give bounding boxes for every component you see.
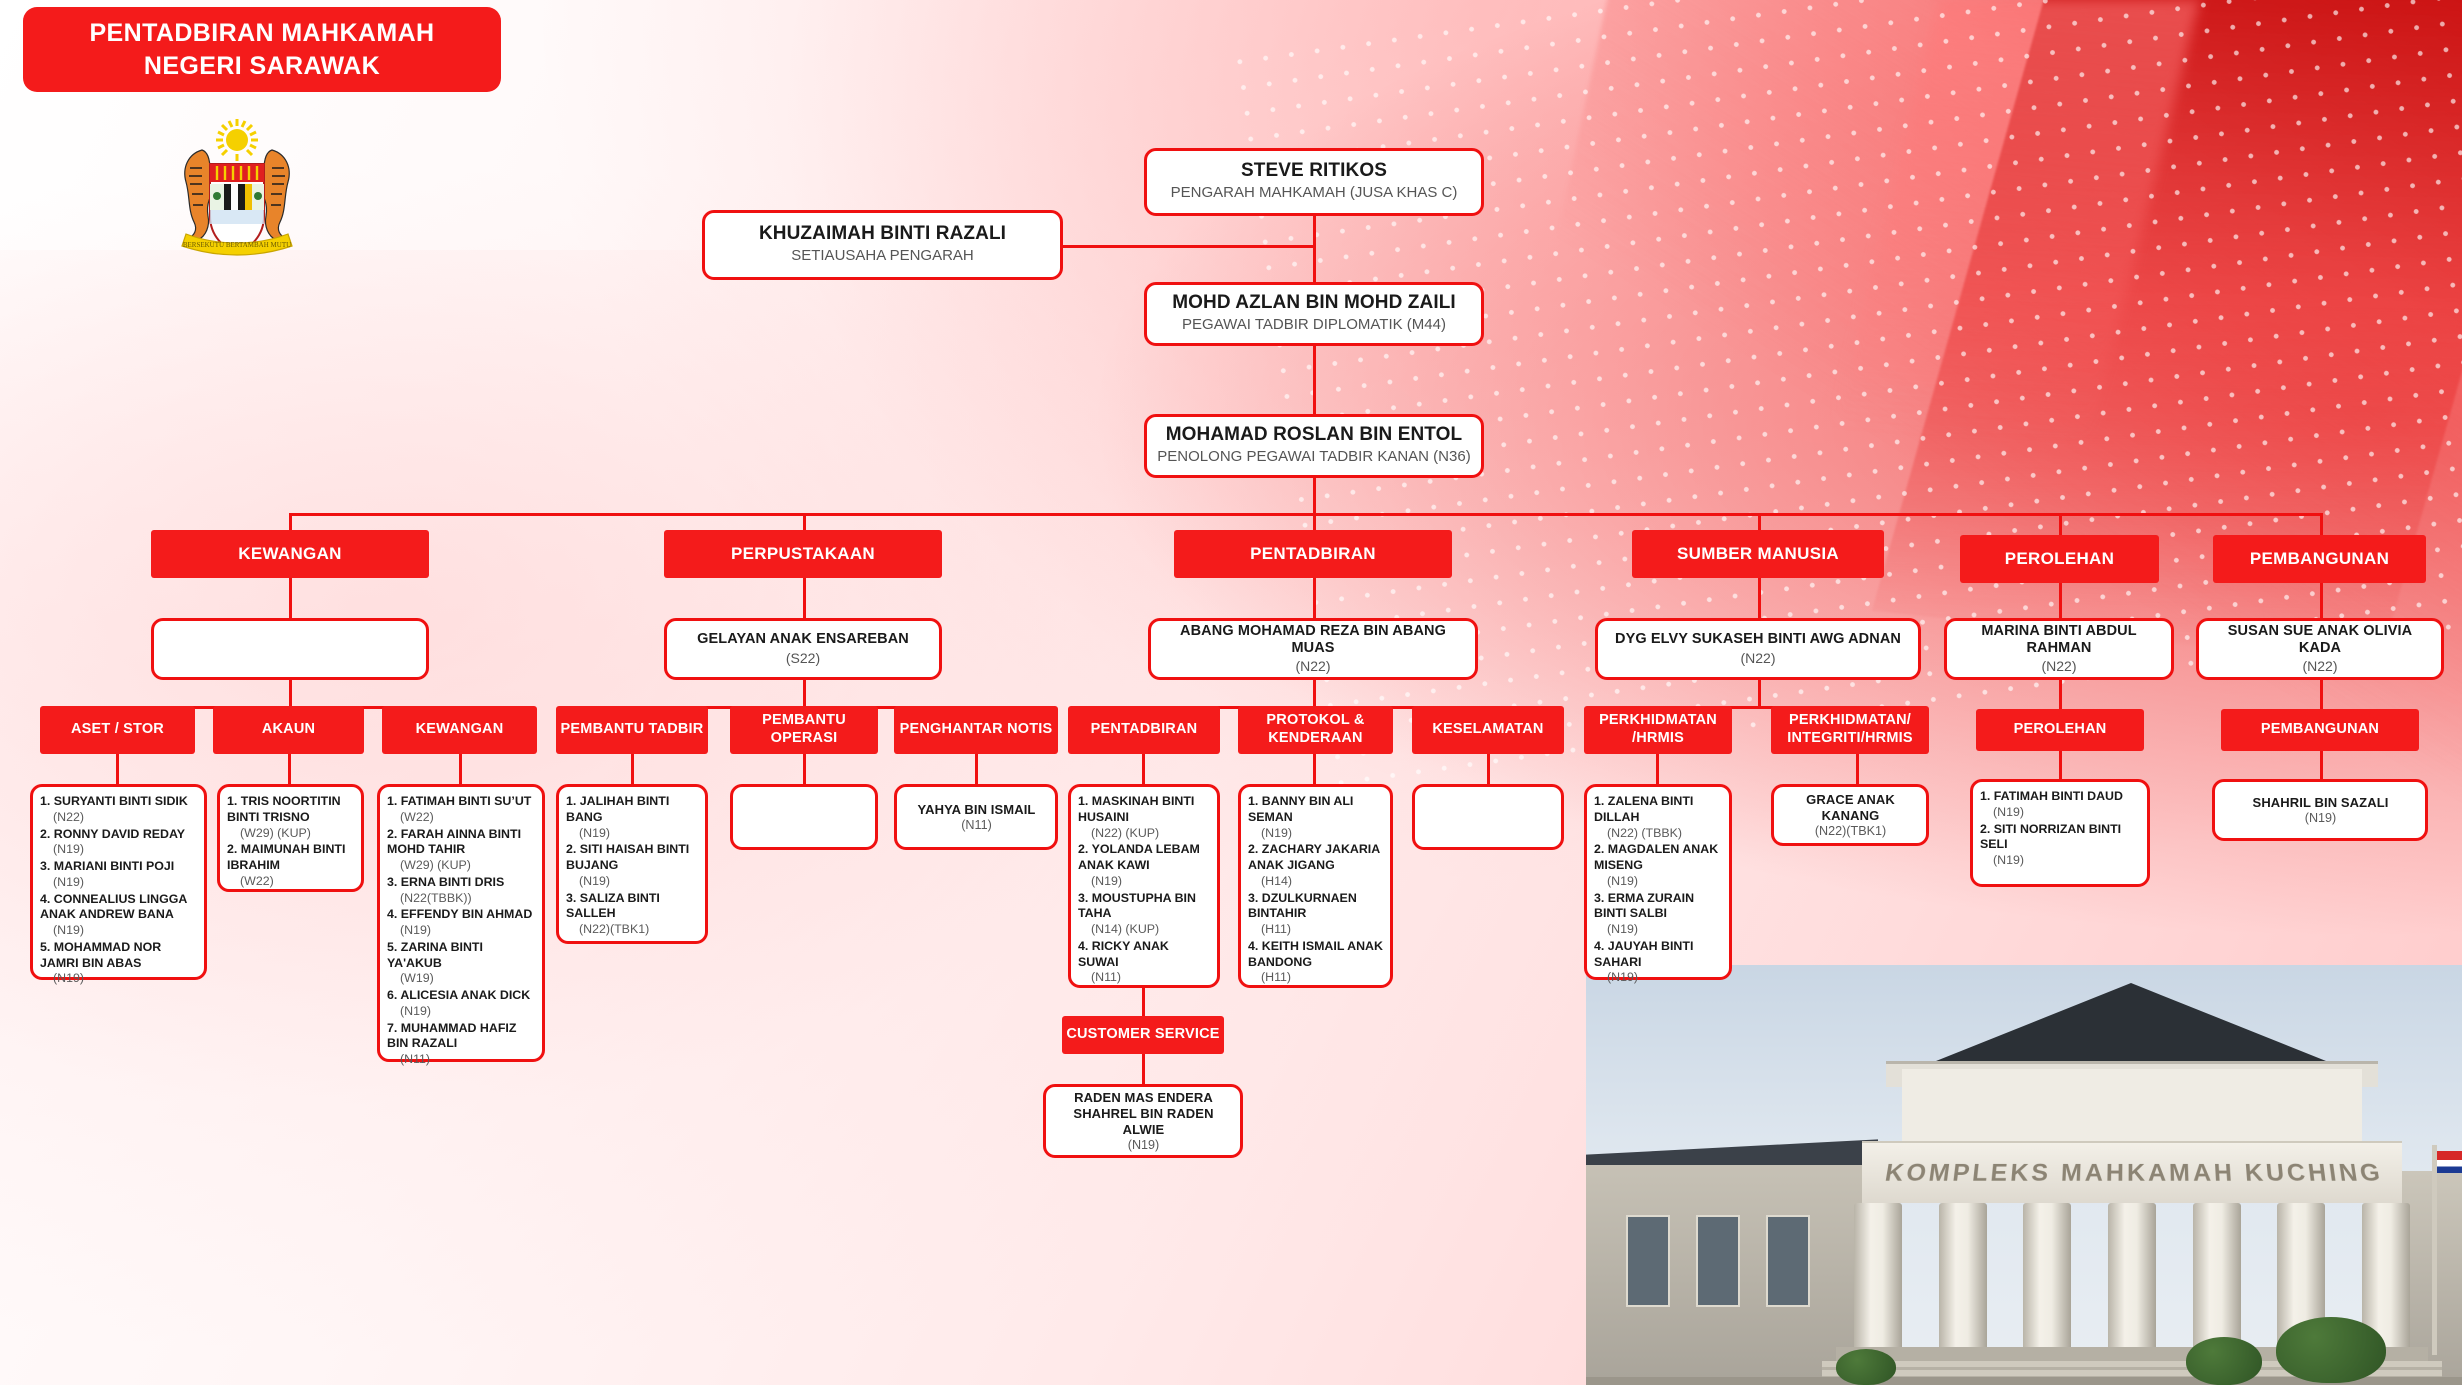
connector bbox=[289, 578, 292, 618]
division-head-pembangunan[interactable]: SUSAN SUE ANAK OLIVIA KADA (N22) bbox=[2196, 618, 2444, 680]
staff-grade: (N11) bbox=[961, 818, 992, 832]
connector bbox=[1313, 513, 1316, 530]
exec-rank: SETIAUSAHA PENGARAH bbox=[791, 246, 974, 266]
head-name: DYG ELVY SUKASEH BINTI AWG ADNAN bbox=[1615, 631, 1901, 648]
exec-node-pengarah[interactable]: STEVE RITIKOS PENGARAH MAHKAMAH (JUSA KH… bbox=[1144, 148, 1484, 216]
staff-item: 7. MUHAMMAD HAFIZ BIN RAZALI(N11) bbox=[387, 1021, 536, 1068]
staff-item: 3. MOUSTUPHA BIN TAHA(N14) (KUP) bbox=[1078, 891, 1211, 938]
division-header-kewangan[interactable]: KEWANGAN bbox=[151, 530, 429, 578]
unit-header-pentadbiran[interactable]: PENTADBIRAN bbox=[1068, 706, 1220, 754]
exec-name: MOHAMAD ROSLAN BIN ENTOL bbox=[1166, 424, 1463, 446]
connector-division-bus bbox=[289, 513, 2322, 516]
exec-name: STEVE RITIKOS bbox=[1241, 160, 1387, 182]
exec-rank: PENGARAH MAHKAMAH (JUSA KHAS C) bbox=[1171, 183, 1458, 203]
staff-item: 1. ZALENA BINTI DILLAH(N22) (TBBK) bbox=[1594, 794, 1723, 841]
connector bbox=[2059, 751, 2062, 779]
staff-list: 1. FATIMAH BINTI DAUD(N19)2. SITI NORRIZ… bbox=[1980, 789, 2141, 870]
connector bbox=[2059, 583, 2062, 618]
exec-name: KHUZAIMAH BINTI RAZALI bbox=[759, 223, 1006, 245]
staff-single-perkhidmatan-integriti[interactable]: GRACE ANAK KANANG (N22)(TBK1) bbox=[1771, 784, 1929, 846]
unit-header-pembangunan[interactable]: PEMBANGUNAN bbox=[2221, 709, 2419, 751]
head-name: ABANG MOHAMAD REZA BIN ABANG MUAS bbox=[1157, 623, 1469, 658]
staff-item: 4. CONNEALIUS LINGGA ANAK ANDREW BANA(N1… bbox=[40, 892, 198, 939]
staff-list-perolehan[interactable]: 1. FATIMAH BINTI DAUD(N19)2. SITI NORRIZ… bbox=[1970, 779, 2150, 887]
division-head-kewangan[interactable] bbox=[151, 618, 429, 680]
exec-node-ptd[interactable]: MOHD AZLAN BIN MOHD ZAILI PEGAWAI TADBIR… bbox=[1144, 282, 1484, 346]
unit-header-penghantar-notis[interactable]: PENGHANTAR NOTIS bbox=[894, 706, 1058, 754]
org-chart: STEVE RITIKOS PENGARAH MAHKAMAH (JUSA KH… bbox=[0, 0, 2462, 1385]
head-name: MARINA BINTI ABDUL RAHMAN bbox=[1953, 623, 2165, 658]
connector bbox=[289, 680, 292, 706]
staff-single-penghantar-notis[interactable]: YAHYA BIN ISMAIL (N11) bbox=[894, 784, 1058, 850]
connector bbox=[2320, 583, 2323, 618]
staff-item: 3. SALIZA BINTI SALLEH(N22)(TBK1) bbox=[566, 891, 699, 938]
connector bbox=[2059, 680, 2062, 709]
unit-header-kewangan[interactable]: KEWANGAN bbox=[382, 706, 537, 754]
staff-list-pembantu-tadbir[interactable]: 1. JALIHAH BINTI BANG(N19)2. SITI HAISAH… bbox=[556, 784, 708, 944]
staff-item: 4. JAUYAH BINTI SAHARI(N19) bbox=[1594, 939, 1723, 986]
staff-item: 4. EFFENDY BIN AHMAD(N19) bbox=[387, 907, 536, 939]
head-name: SUSAN SUE ANAK OLIVIA KADA bbox=[2205, 623, 2435, 658]
staff-single-customer-service[interactable]: RADEN MAS ENDERA SHAHREL BIN RADEN ALWIE… bbox=[1043, 1084, 1243, 1158]
page-title: PENTADBIRAN MAHKAMAH NEGERI SARAWAK bbox=[23, 7, 501, 92]
staff-name: GRACE ANAK KANANG bbox=[1781, 792, 1920, 824]
division-head-perolehan[interactable]: MARINA BINTI ABDUL RAHMAN (N22) bbox=[1944, 618, 2174, 680]
connector bbox=[116, 754, 119, 784]
unit-header-keselamatan[interactable]: KESELAMATAN bbox=[1412, 706, 1564, 754]
staff-item: 2. MAIMUNAH BINTI IBRAHIM(W22) bbox=[227, 842, 355, 889]
division-header-pembangunan[interactable]: PEMBANGUNAN bbox=[2213, 535, 2426, 583]
staff-item: 1. MASKINAH BINTI HUSAINI(N22) (KUP) bbox=[1078, 794, 1211, 841]
division-header-perolehan[interactable]: PEROLEHAN bbox=[1960, 535, 2159, 583]
staff-item: 2. YOLANDA LEBAM ANAK KAWI(N19) bbox=[1078, 842, 1211, 889]
connector bbox=[1313, 578, 1316, 618]
staff-list-keselamatan[interactable] bbox=[1412, 784, 1564, 850]
connector bbox=[975, 754, 978, 784]
svg-text:BERSEKUTU BERTAMBAH MUTU: BERSEKUTU BERTAMBAH MUTU bbox=[183, 241, 291, 249]
division-header-perpustakaan[interactable]: PERPUSTAKAAN bbox=[664, 530, 942, 578]
connector bbox=[803, 754, 806, 784]
staff-list-protokol-kenderaan[interactable]: 1. BANNY BIN ALI SEMAN(N19)2. ZACHARY JA… bbox=[1238, 784, 1393, 988]
staff-single-pembangunan[interactable]: SHAHRIL BIN SAZALI (N19) bbox=[2212, 779, 2428, 841]
staff-item: 1. JALIHAH BINTI BANG(N19) bbox=[566, 794, 699, 841]
staff-item: 2. MAGDALEN ANAK MISENG(N19) bbox=[1594, 842, 1723, 889]
unit-header-perolehan[interactable]: PEROLEHAN bbox=[1976, 709, 2144, 751]
staff-item: 2. SITI NORRIZAN BINTI SELI(N19) bbox=[1980, 822, 2141, 869]
staff-item: 2. SITI HAISAH BINTI BUJANG(N19) bbox=[566, 842, 699, 889]
staff-list: 1. SURYANTI BINTI SIDIK(N22)2. RONNY DAV… bbox=[40, 794, 198, 988]
division-header-pentadbiran[interactable]: PENTADBIRAN bbox=[1174, 530, 1452, 578]
connector bbox=[1656, 754, 1659, 784]
staff-item: 1. SURYANTI BINTI SIDIK(N22) bbox=[40, 794, 198, 826]
connector bbox=[1313, 680, 1316, 706]
connector bbox=[1142, 754, 1145, 784]
staff-item: 2. RONNY DAVID REDAY(N19) bbox=[40, 827, 198, 859]
unit-header-pembantu-operasi[interactable]: PEMBANTU OPERASI bbox=[730, 706, 878, 754]
head-rank: (N22) bbox=[2302, 657, 2337, 675]
staff-list-pentadbiran[interactable]: 1. MASKINAH BINTI HUSAINI(N22) (KUP)2. Y… bbox=[1068, 784, 1220, 988]
connector bbox=[2320, 513, 2323, 535]
unit-header-perkhidmatan-integriti-hrmis[interactable]: PERKHIDMATAN/ INTEGRITI/HRMIS bbox=[1771, 706, 1929, 754]
staff-list: 1. FATIMAH BINTI SU’UT(W22)2. FARAH AINN… bbox=[387, 794, 536, 1069]
staff-item: 2. FARAH AINNA BINTI MOHD TAHIR(W29) (KU… bbox=[387, 827, 536, 874]
staff-item: 1. TRIS NOORTITIN BINTI TRISNO(W29) (KUP… bbox=[227, 794, 355, 841]
staff-list-akaun[interactable]: 1. TRIS NOORTITIN BINTI TRISNO(W29) (KUP… bbox=[217, 784, 364, 892]
unit-header-pembantu-tadbir[interactable]: PEMBANTU TADBIR bbox=[556, 706, 708, 754]
staff-item: 4. RICKY ANAK SUWAI(N11) bbox=[1078, 939, 1211, 986]
staff-item: 3. MARIANI BINTI POJI(N19) bbox=[40, 859, 198, 891]
connector bbox=[1856, 754, 1859, 784]
staff-list-pembantu-operasi[interactable] bbox=[730, 784, 878, 850]
connector bbox=[803, 680, 806, 706]
staff-item: 1. BANNY BIN ALI SEMAN(N19) bbox=[1248, 794, 1384, 841]
staff-list: 1. MASKINAH BINTI HUSAINI(N22) (KUP)2. Y… bbox=[1078, 794, 1211, 987]
staff-item: 1. FATIMAH BINTI SU’UT(W22) bbox=[387, 794, 536, 826]
staff-item: 5. ZARINA BINTI YA'AKUB(W19) bbox=[387, 940, 536, 987]
head-rank: (N22) bbox=[1740, 649, 1775, 667]
staff-list-aset-stor[interactable]: 1. SURYANTI BINTI SIDIK(N22)2. RONNY DAV… bbox=[30, 784, 207, 980]
exec-node-setiausaha[interactable]: KHUZAIMAH BINTI RAZALI SETIAUSAHA PENGAR… bbox=[702, 210, 1063, 280]
connector bbox=[1142, 988, 1145, 1016]
staff-grade: (N19) bbox=[1128, 1138, 1160, 1152]
unit-header-customer-service[interactable]: CUSTOMER SERVICE bbox=[1062, 1016, 1224, 1054]
exec-name: MOHD AZLAN BIN MOHD ZAILI bbox=[1172, 292, 1456, 314]
staff-name: RADEN MAS ENDERA SHAHREL BIN RADEN ALWIE bbox=[1053, 1090, 1234, 1138]
head-rank: (N22) bbox=[2041, 657, 2076, 675]
connector bbox=[1758, 513, 1761, 530]
staff-list-perkhidmatan-hrmis[interactable]: 1. ZALENA BINTI DILLAH(N22) (TBBK)2. MAG… bbox=[1584, 784, 1732, 980]
connector bbox=[1487, 754, 1490, 784]
unit-header-protokol-kenderaan[interactable]: PROTOKOL & KENDERAAN bbox=[1238, 706, 1393, 754]
connector bbox=[803, 578, 806, 618]
connector bbox=[2059, 513, 2062, 535]
connector bbox=[803, 513, 806, 530]
staff-item: 2. ZACHARY JAKARIA ANAK JIGANG(H14) bbox=[1248, 842, 1384, 889]
head-rank: (S22) bbox=[786, 649, 820, 667]
staff-list: 1. JALIHAH BINTI BANG(N19)2. SITI HAISAH… bbox=[566, 794, 699, 939]
unit-header-akaun[interactable]: AKAUN bbox=[213, 706, 364, 754]
unit-header-aset-stor[interactable]: ASET / STOR bbox=[40, 706, 195, 754]
division-header-sumber-manusia[interactable]: SUMBER MANUSIA bbox=[1632, 530, 1884, 578]
staff-name: YAHYA BIN ISMAIL bbox=[918, 802, 1036, 818]
staff-item: 6. ALICESIA ANAK DICK(N19) bbox=[387, 988, 536, 1020]
staff-name: SHAHRIL BIN SAZALI bbox=[2253, 795, 2389, 811]
connector bbox=[2320, 751, 2323, 779]
jata-negara-emblem: BERSEKUTU BERTAMBAH MUTU bbox=[132, 110, 342, 265]
staff-item: 4. KEITH ISMAIL ANAK BANDONG(H11) bbox=[1248, 939, 1384, 986]
staff-item: 3. ERMA ZURAIN BINTI SALBI(N19) bbox=[1594, 891, 1723, 938]
head-rank: (N22) bbox=[1295, 657, 1330, 675]
staff-item: 3. DZULKURNAEN BINTAHIR(H11) bbox=[1248, 891, 1384, 938]
page-title-line2: NEGERI SARAWAK bbox=[144, 50, 380, 83]
staff-list-kewangan[interactable]: 1. FATIMAH BINTI SU’UT(W22)2. FARAH AINN… bbox=[377, 784, 545, 1062]
staff-list: 1. BANNY BIN ALI SEMAN(N19)2. ZACHARY JA… bbox=[1248, 794, 1384, 987]
staff-list: 1. ZALENA BINTI DILLAH(N22) (TBBK)2. MAG… bbox=[1594, 794, 1723, 987]
connector bbox=[459, 754, 462, 784]
connector bbox=[289, 513, 292, 530]
division-head-sumber-manusia[interactable]: DYG ELVY SUKASEH BINTI AWG ADNAN (N22) bbox=[1595, 618, 1921, 680]
exec-rank: PEGAWAI TADBIR DIPLOMATIK (M44) bbox=[1182, 315, 1446, 335]
connector bbox=[1313, 754, 1316, 784]
connector bbox=[631, 754, 634, 784]
staff-item: 3. ERNA BINTI DRIS(N22(TBBK)) bbox=[387, 875, 536, 907]
division-head-perpustakaan[interactable]: GELAYAN ANAK ENSAREBAN (S22) bbox=[664, 618, 942, 680]
exec-node-ppt-kanan[interactable]: MOHAMAD ROSLAN BIN ENTOL PENOLONG PEGAWA… bbox=[1144, 414, 1484, 478]
staff-item: 5. MOHAMMAD NOR JAMRI BIN ABAS(N19) bbox=[40, 940, 198, 987]
staff-item: 1. FATIMAH BINTI DAUD(N19) bbox=[1980, 789, 2141, 821]
connector bbox=[1142, 1054, 1145, 1084]
unit-header-perkhidmatan-hrmis[interactable]: PERKHIDMATAN /HRMIS bbox=[1584, 706, 1732, 754]
connector bbox=[288, 754, 291, 784]
connector bbox=[1758, 578, 1761, 618]
staff-grade: (N19) bbox=[2305, 811, 2337, 825]
staff-grade: (N22)(TBK1) bbox=[1815, 824, 1886, 838]
staff-list: 1. TRIS NOORTITIN BINTI TRISNO(W29) (KUP… bbox=[227, 794, 355, 891]
head-name: GELAYAN ANAK ENSAREBAN bbox=[697, 631, 909, 648]
connector bbox=[2320, 680, 2323, 709]
connector bbox=[1758, 680, 1761, 706]
exec-rank: PENOLONG PEGAWAI TADBIR KANAN (N36) bbox=[1157, 447, 1470, 467]
connector bbox=[1063, 245, 1316, 248]
division-head-pentadbiran[interactable]: ABANG MOHAMAD REZA BIN ABANG MUAS (N22) bbox=[1148, 618, 1478, 680]
page-title-line1: PENTADBIRAN MAHKAMAH bbox=[89, 17, 434, 50]
